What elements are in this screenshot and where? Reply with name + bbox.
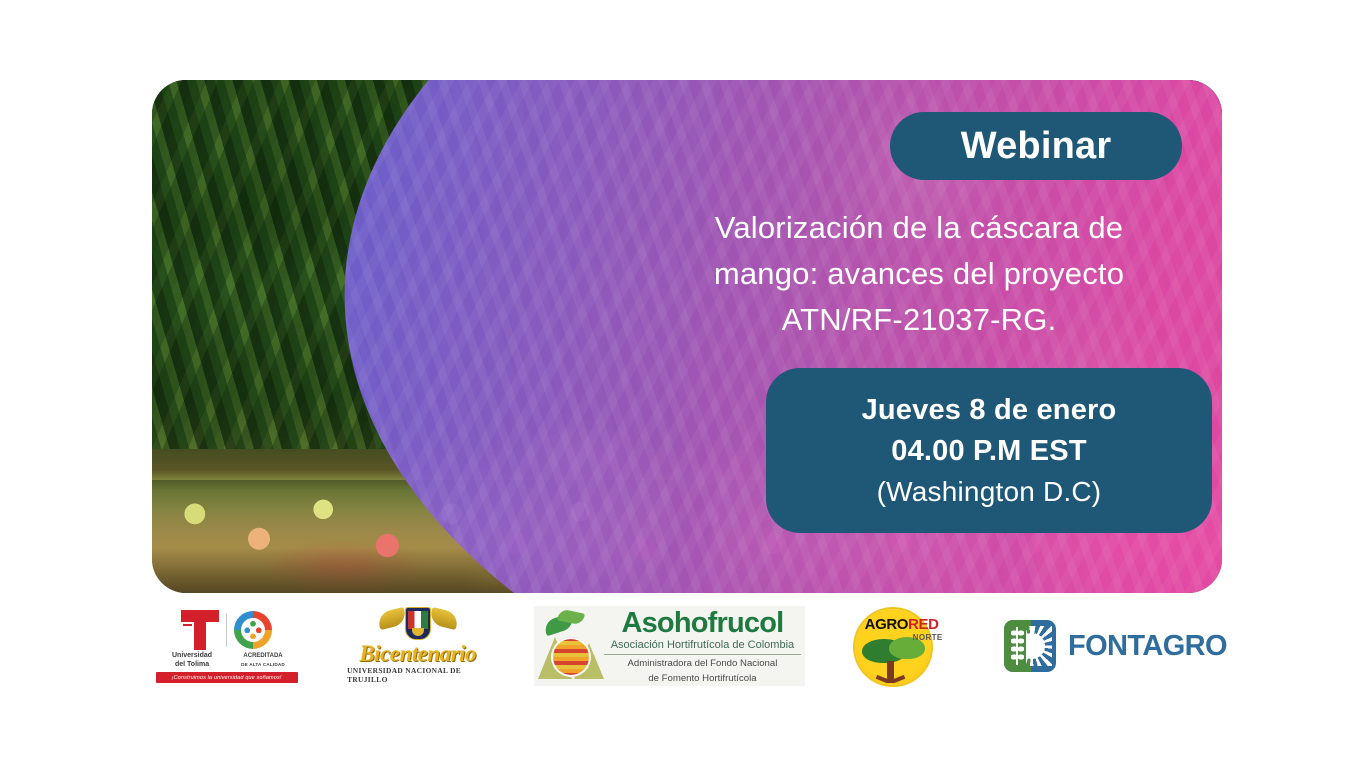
tolima-marks-row xyxy=(181,609,272,651)
acreditada-seal-icon xyxy=(234,611,272,649)
fontagro-mark-icon xyxy=(1004,620,1056,672)
tree-icon xyxy=(861,637,925,683)
poster-content: Webinar Valorización de la cáscara de ma… xyxy=(152,80,1222,593)
tolima-name-line-1: Universidad xyxy=(159,652,225,661)
eagle-crest-icon xyxy=(378,607,458,641)
sponsor-logo-strip: Universidad del Tolima ACREDITADA DE ALT… xyxy=(152,600,1222,692)
webinar-date: Jueves 8 de enero xyxy=(862,390,1117,431)
webinar-poster-card: Webinar Valorización de la cáscara de ma… xyxy=(152,80,1222,593)
logo-fontagro: FONTAGRO xyxy=(1004,615,1222,677)
logo-asohofrucol: Asohofrucol Asociación Hortifrutícola de… xyxy=(534,606,804,686)
agrored-wordmark: AGRORED xyxy=(865,617,939,633)
asohofrucol-text-block: Asohofrucol Asociación Hortifrutícola de… xyxy=(604,608,800,685)
asohofrucol-fruit-icon xyxy=(538,611,604,681)
tolima-accreditation: ACREDITADA DE ALTA CALIDAD xyxy=(232,652,294,669)
page-title: Valorización de la cáscara de mango: ava… xyxy=(650,205,1188,343)
agrored-subtitle: NORTE xyxy=(913,633,943,642)
fruit-icon xyxy=(551,637,591,677)
asohofrucol-subtitle-3: de Fomento Hortifrutícola xyxy=(648,672,756,685)
tolima-name-line-2: del Tolima xyxy=(159,661,225,670)
webinar-badge: Webinar xyxy=(890,112,1182,180)
eagle-wing-right-icon xyxy=(428,607,459,630)
asohofrucol-subtitle-1: Asociación Hortifrutícola de Colombia xyxy=(604,638,800,655)
asohofrucol-subtitle-2: Administradora del Fondo Nacional xyxy=(628,657,778,670)
webinar-time: 04.00 P.M EST xyxy=(891,431,1087,472)
eagle-wing-left-icon xyxy=(376,607,407,630)
peru-shield-icon xyxy=(405,607,431,640)
bicentenario-subtitle: UNIVERSIDAD NACIONAL DE TRUJILLO xyxy=(347,666,488,684)
date-time-card: Jueves 8 de enero 04.00 P.M EST (Washing… xyxy=(766,368,1212,533)
tolima-name: Universidad del Tolima xyxy=(159,652,225,669)
title-line-2: mango: avances del proyecto xyxy=(650,251,1188,297)
asohofrucol-wordmark: Asohofrucol xyxy=(621,608,783,638)
logo-bicentenario-unt: Bicentenario UNIVERSIDAD NACIONAL DE TRU… xyxy=(347,607,488,685)
fontagro-wordmark: FONTAGRO xyxy=(1068,630,1227,663)
logo-universidad-del-tolima: Universidad del Tolima ACREDITADA DE ALT… xyxy=(152,609,301,683)
title-line-1: Valorización de la cáscara de xyxy=(650,205,1188,251)
agrored-word-agro: AGRO xyxy=(865,616,908,633)
gear-icon xyxy=(1026,626,1052,666)
tolima-slogan-ribbon: ¡Construimos la universidad que soñamos! xyxy=(156,672,298,683)
tolima-t-icon xyxy=(181,610,219,650)
bicentenario-wordmark: Bicentenario xyxy=(359,641,476,666)
webinar-timezone-city: (Washington D.C) xyxy=(877,472,1102,512)
divider xyxy=(226,613,227,647)
accreditation-line-2: DE ALTA CALIDAD xyxy=(232,661,294,670)
agrored-word-red: RED xyxy=(908,616,938,633)
title-line-3: ATN/RF-21037-RG. xyxy=(650,297,1188,343)
accreditation-line-1: ACREDITADA xyxy=(232,652,294,661)
tree-trunk-icon xyxy=(887,661,894,683)
webinar-badge-label: Webinar xyxy=(961,125,1112,168)
tolima-labels: Universidad del Tolima ACREDITADA DE ALT… xyxy=(159,652,294,669)
wheat-icon xyxy=(1011,627,1024,665)
logo-agrored-norte: AGRORED NORTE xyxy=(851,603,958,689)
